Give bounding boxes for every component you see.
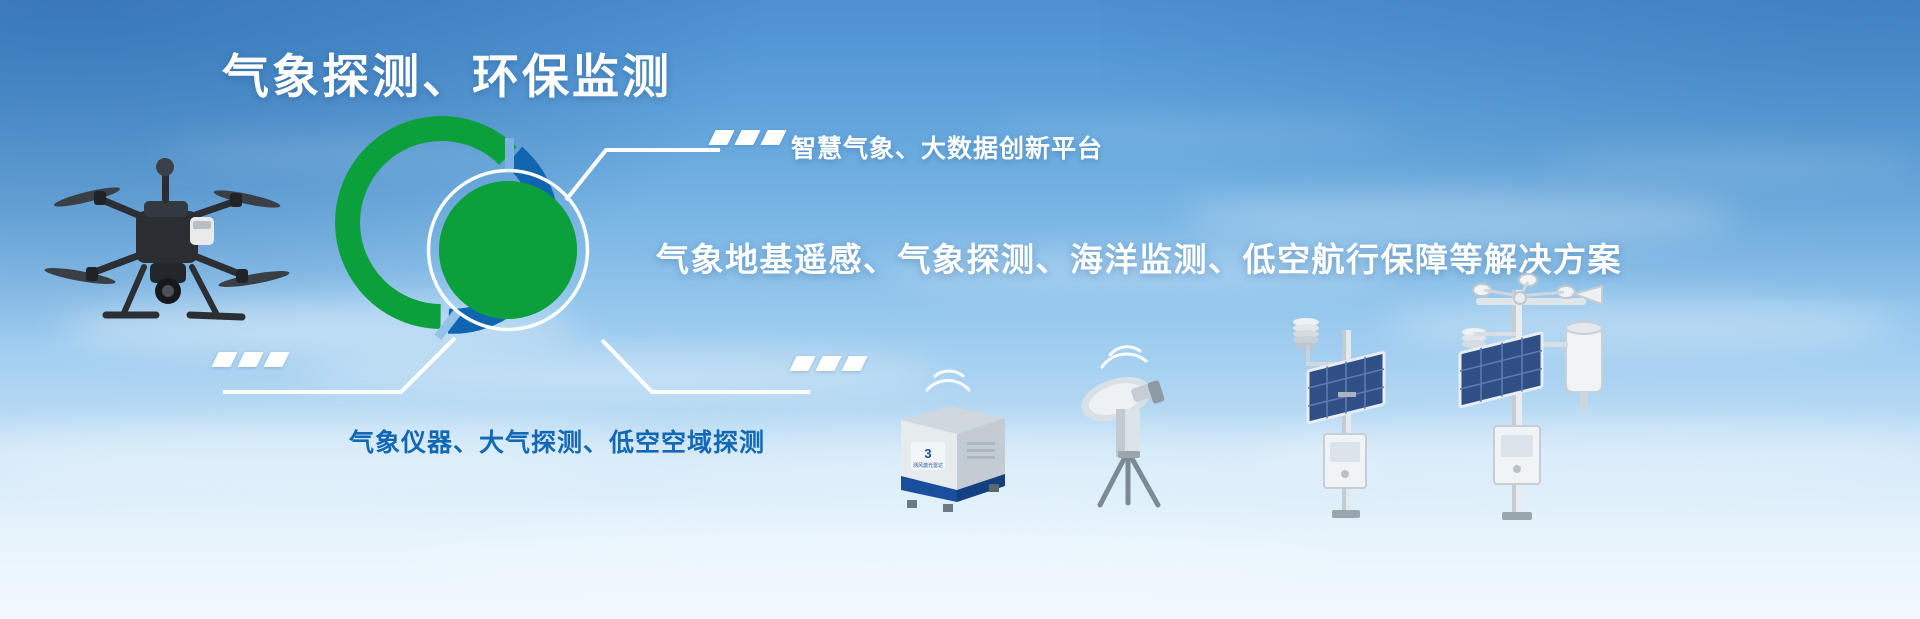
label-instruments: 气象仪器、大气探测、低空空域探测	[349, 423, 765, 459]
svg-text:3: 3	[924, 446, 931, 461]
dash-mark	[263, 352, 289, 367]
dash-mark	[237, 352, 263, 367]
lidar-device-illustration: 3 测风激光雷达	[893, 398, 1013, 518]
solar-weather-station-1	[1280, 300, 1410, 520]
drone-illustration	[40, 155, 300, 355]
dash-mark	[708, 130, 734, 145]
dash-mark	[841, 356, 867, 371]
dash-mark	[760, 130, 786, 145]
radar-dish-illustration	[1072, 355, 1192, 515]
dash-marks-top	[712, 130, 783, 145]
svg-text:测风激光雷达: 测风激光雷达	[913, 462, 943, 469]
dash-mark	[789, 356, 815, 371]
dash-marks-bottom-right	[793, 356, 864, 371]
promo-banner: 气象探测、环保监测	[0, 0, 1920, 619]
solar-weather-station-2	[1416, 272, 1616, 522]
donut-ring-graphic	[396, 138, 620, 362]
cloud-wisp	[1540, 150, 1920, 178]
label-smart-meteorology: 智慧气象、大数据创新平台	[791, 129, 1103, 165]
dash-mark	[211, 352, 237, 367]
dash-marks-bottom-left	[215, 352, 286, 367]
banner-title: 气象探测、环保监测	[222, 50, 672, 104]
dash-mark	[734, 130, 760, 145]
dash-mark	[815, 356, 841, 371]
